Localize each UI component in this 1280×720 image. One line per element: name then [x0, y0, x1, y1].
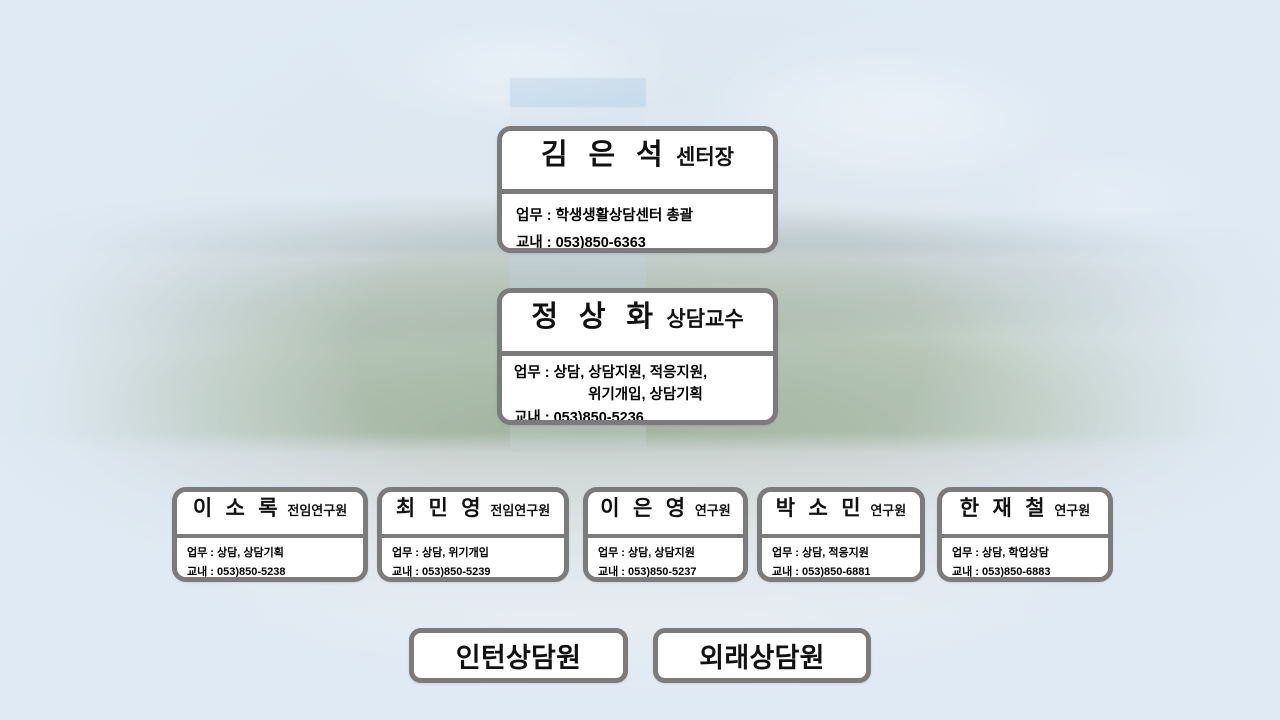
phone-text: 교내 : 053)850-6881	[772, 563, 910, 582]
node-body: 업무 : 상담, 학업상담 교내 : 053)850-6883	[942, 538, 1108, 582]
person-name: 정 상 화	[531, 293, 659, 335]
phone-text: 교내 : 053)850-5237	[598, 563, 733, 582]
person-role: 전임연구원	[490, 500, 550, 519]
node-header: 한 재 철 연구원	[942, 492, 1108, 534]
org-node-center-director[interactable]: 김 은 석 센터장 업무 : 학생생활상담센터 총괄 교내 : 053)850-…	[497, 126, 778, 253]
org-node-external-counselor[interactable]: 외래상담원	[653, 628, 871, 683]
org-node-staff-park-somin[interactable]: 박 소 민 연구원 업무 : 상담, 적응지원 교내 : 053)850-688…	[757, 487, 925, 582]
node-label: 외래상담원	[699, 636, 825, 675]
person-role: 연구원	[870, 500, 906, 519]
duty-text: 업무 : 상담, 위기개입	[392, 544, 554, 563]
node-body: 업무 : 상담, 상담지원 교내 : 053)850-5237	[588, 538, 743, 582]
duty-text: 업무 : 상담, 적응지원	[772, 544, 910, 563]
org-chart-canvas: 김 은 석 센터장 업무 : 학생생활상담센터 총괄 교내 : 053)850-…	[0, 0, 1280, 720]
person-role: 전임연구원	[287, 500, 347, 519]
person-role: 센터장	[676, 141, 734, 171]
person-name: 한 재 철	[960, 492, 1049, 522]
person-role: 상담교수	[666, 303, 743, 333]
org-node-counseling-professor[interactable]: 정 상 화 상담교수 업무 : 상담, 상담지원, 적응지원, 위기개입, 상담…	[497, 288, 778, 425]
node-body: 업무 : 상담, 위기개입 교내 : 053)850-5239	[382, 538, 564, 582]
phone-text: 교내 : 053)850-5236	[514, 407, 761, 425]
duty-text: 업무 : 학생생활상담센터 총괄	[516, 203, 759, 230]
duty-text: 업무 : 상담, 학업상담	[952, 544, 1098, 563]
person-role: 연구원	[695, 500, 731, 519]
duty-text-line-2: 위기개입, 상담기획	[514, 384, 761, 406]
org-node-staff-lee-eunyoung[interactable]: 이 은 영 연구원 업무 : 상담, 상담지원 교내 : 053)850-523…	[583, 487, 748, 582]
node-body: 업무 : 상담, 상담지원, 적응지원, 위기개입, 상담기획 교내 : 053…	[502, 356, 773, 425]
org-node-intern-counselor[interactable]: 인턴상담원	[409, 628, 628, 683]
phone-text: 교내 : 053)850-5238	[187, 563, 353, 582]
org-node-staff-lee-sorok[interactable]: 이 소 록 전임연구원 업무 : 상담, 상담기획 교내 : 053)850-5…	[172, 487, 368, 582]
duty-text: 업무 : 상담, 상담기획	[187, 544, 353, 563]
person-name: 김 은 석	[541, 131, 669, 173]
node-label: 인턴상담원	[456, 636, 582, 675]
org-node-staff-han-jaechul[interactable]: 한 재 철 연구원 업무 : 상담, 학업상담 교내 : 053)850-688…	[937, 487, 1113, 582]
person-name: 이 소 록	[193, 492, 282, 522]
phone-text: 교내 : 053)850-6883	[952, 563, 1098, 582]
node-body: 업무 : 상담, 적응지원 교내 : 053)850-6881	[762, 538, 920, 582]
node-header: 박 소 민 연구원	[762, 492, 920, 534]
person-name: 최 민 영	[396, 492, 485, 522]
duty-text-line-1: 업무 : 상담, 상담지원, 적응지원,	[514, 362, 761, 384]
person-name: 박 소 민	[776, 492, 865, 522]
node-header: 이 소 록 전임연구원	[177, 492, 363, 534]
org-node-staff-choi-minyoung[interactable]: 최 민 영 전임연구원 업무 : 상담, 위기개입 교내 : 053)850-5…	[377, 487, 569, 582]
node-header: 이 은 영 연구원	[588, 492, 743, 534]
phone-text: 교내 : 053)850-5239	[392, 563, 554, 582]
node-header: 정 상 화 상담교수	[502, 293, 773, 351]
node-header: 최 민 영 전임연구원	[382, 492, 564, 534]
duty-text: 업무 : 상담, 상담지원	[598, 544, 733, 563]
node-body: 업무 : 상담, 상담기획 교내 : 053)850-5238	[177, 538, 363, 582]
node-header: 김 은 석 센터장	[502, 131, 773, 189]
phone-text: 교내 : 053)850-6363	[516, 230, 759, 253]
node-body: 업무 : 학생생활상담센터 총괄 교내 : 053)850-6363	[502, 194, 773, 253]
person-name: 이 은 영	[600, 492, 689, 522]
person-role: 연구원	[1054, 500, 1090, 519]
